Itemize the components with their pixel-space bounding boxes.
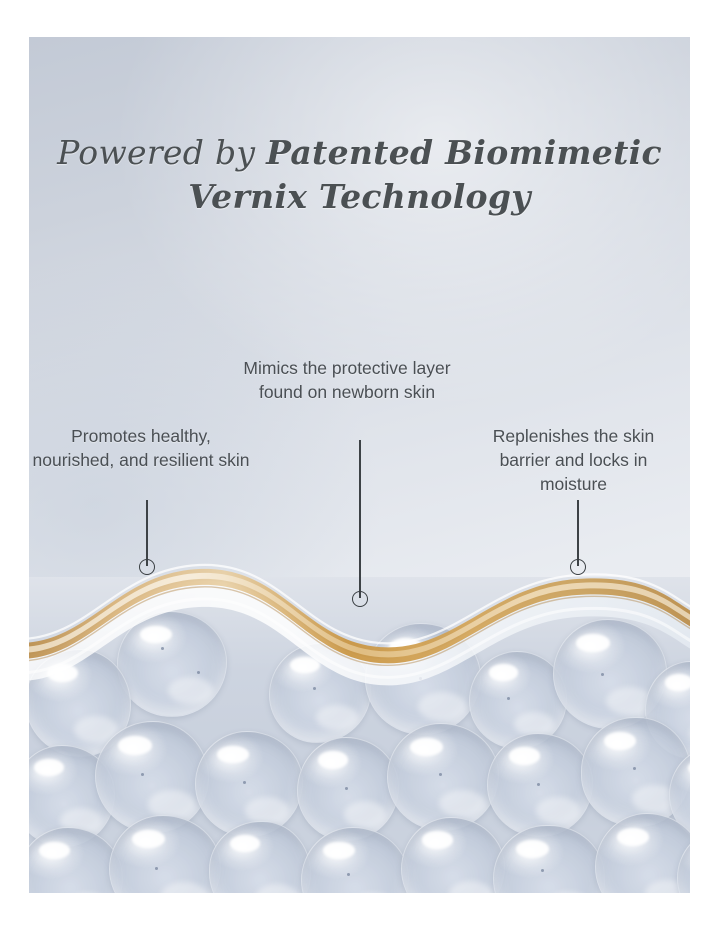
bubble-speck: [419, 677, 422, 680]
gel-sphere-field: [29, 577, 690, 893]
gel-sphere: [487, 733, 593, 837]
bubble-speck: [541, 869, 544, 872]
bubble-speck: [155, 867, 158, 870]
bubble-speck: [161, 647, 164, 650]
bubble-speck: [507, 697, 510, 700]
callout-label-center: Mimics the protective layer found on new…: [227, 357, 467, 405]
bubble-speck: [537, 783, 540, 786]
leader-line-center: [359, 440, 361, 598]
callout-label-left: Promotes healthy, nourished, and resilie…: [31, 425, 251, 473]
page-title: Powered by Patented Biomimetic Vernix Te…: [29, 132, 690, 218]
ring-marker-center-icon: [352, 591, 368, 607]
bubble-speck: [243, 781, 246, 784]
gel-sphere: [387, 723, 499, 831]
bubble-speck: [313, 687, 316, 690]
bubble-speck: [345, 787, 348, 790]
leader-line-right: [577, 500, 579, 566]
bubble-speck: [141, 773, 144, 776]
bubble-speck: [601, 673, 604, 676]
heading-light-text: Powered by: [57, 133, 266, 172]
bubble-speck: [347, 873, 350, 876]
vernix-technology-graphic: Powered by Patented Biomimetic Vernix Te…: [29, 37, 690, 893]
bubble-speck: [197, 671, 200, 674]
leader-line-left: [146, 500, 148, 566]
callout-label-right: Replenishes the skin barrier and locks i…: [471, 425, 676, 496]
heading-strong-text-line2: Vernix Technology: [29, 176, 690, 218]
bubble-speck: [633, 767, 636, 770]
ring-marker-right-icon: [570, 559, 586, 575]
ring-marker-left-icon: [139, 559, 155, 575]
bubble-speck: [439, 773, 442, 776]
gel-sphere: [365, 623, 481, 735]
marketing-graphic-page: Powered by Patented Biomimetic Vernix Te…: [0, 0, 720, 928]
gel-sphere: [117, 611, 227, 717]
heading-strong-text-line1: Patented Biomimetic: [266, 133, 662, 172]
